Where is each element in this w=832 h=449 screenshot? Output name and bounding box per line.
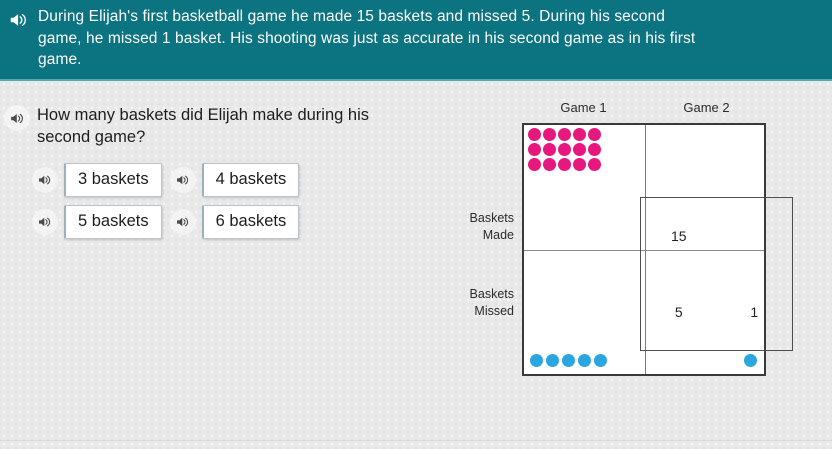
answer-button-1[interactable]: 3 baskets xyxy=(64,163,162,197)
column-header-game2: Game 2 xyxy=(645,100,768,115)
counter-dot xyxy=(562,354,575,367)
answer-option-3[interactable]: 5 baskets xyxy=(32,205,162,239)
counter-dot xyxy=(588,128,601,141)
missed-counters-game1 xyxy=(530,354,607,367)
speaker-icon[interactable] xyxy=(4,105,30,131)
question-block: How many baskets did Elijah make during … xyxy=(4,104,424,148)
speaker-icon[interactable] xyxy=(170,167,196,193)
counter-dot xyxy=(573,128,586,141)
row-label-baskets-missed: Baskets Missed xyxy=(452,286,514,320)
counter-dot xyxy=(744,354,757,367)
missed-counters-game2 xyxy=(744,354,757,367)
passage-text: During Elijah's first basketball game he… xyxy=(38,6,698,71)
counter-dot xyxy=(558,143,571,156)
answer-row-2: 5 baskets 6 baskets xyxy=(32,205,332,239)
answer-button-2[interactable]: 4 baskets xyxy=(202,163,300,197)
cell-made-game2[interactable] xyxy=(717,198,793,274)
counter-dot xyxy=(528,143,541,156)
footer-divider xyxy=(0,440,832,441)
counter-dot xyxy=(546,354,559,367)
column-headers: Game 1 Game 2 xyxy=(522,100,768,115)
answer-options: 3 baskets 4 baskets 5 baskets xyxy=(32,163,332,247)
cell-missed-game2[interactable]: 1 xyxy=(717,274,793,350)
row-label-made-line2: Made xyxy=(452,227,514,244)
counter-dot xyxy=(528,158,541,171)
row-label-baskets-made: Baskets Made xyxy=(452,210,514,244)
counter-dot xyxy=(558,128,571,141)
counter-dot xyxy=(543,143,556,156)
column-header-game1: Game 1 xyxy=(522,100,645,115)
row-label-missed-line2: Missed xyxy=(452,303,514,320)
cell-made-game1[interactable]: 15 xyxy=(641,198,717,274)
answer-option-4[interactable]: 6 baskets xyxy=(170,205,300,239)
row-label-missed-line1: Baskets xyxy=(452,286,514,303)
answer-option-2[interactable]: 4 baskets xyxy=(170,163,300,197)
counter-dot xyxy=(543,158,556,171)
answer-button-4[interactable]: 6 baskets xyxy=(202,205,300,239)
passage-header: During Elijah's first basketball game he… xyxy=(0,0,832,81)
counter-dot xyxy=(588,143,601,156)
row-label-made-line1: Baskets xyxy=(452,210,514,227)
question-text: How many baskets did Elijah make during … xyxy=(37,104,387,148)
made-counters-game1 xyxy=(528,128,600,172)
answer-option-1[interactable]: 3 baskets xyxy=(32,163,162,197)
row-labels: Baskets Made Baskets Missed xyxy=(452,123,518,377)
counter-dot xyxy=(588,158,601,171)
counter-dot xyxy=(543,128,556,141)
counter-dot xyxy=(573,158,586,171)
counter-dot xyxy=(528,128,541,141)
speaker-icon[interactable] xyxy=(32,167,58,193)
inner-value-grid: 15 5 1 xyxy=(640,197,793,351)
counter-dot xyxy=(530,354,543,367)
counter-dot xyxy=(558,158,571,171)
counter-dot xyxy=(594,354,607,367)
outer-grid: 15 5 1 xyxy=(522,123,766,376)
speaker-icon[interactable] xyxy=(32,209,58,235)
cell-missed-game1[interactable]: 5 xyxy=(641,274,717,350)
speaker-icon[interactable] xyxy=(170,209,196,235)
counter-dot xyxy=(573,143,586,156)
counter-dot xyxy=(578,354,591,367)
answer-button-3[interactable]: 5 baskets xyxy=(64,205,162,239)
speaker-icon[interactable] xyxy=(8,9,30,31)
answer-row-1: 3 baskets 4 baskets xyxy=(32,163,332,197)
